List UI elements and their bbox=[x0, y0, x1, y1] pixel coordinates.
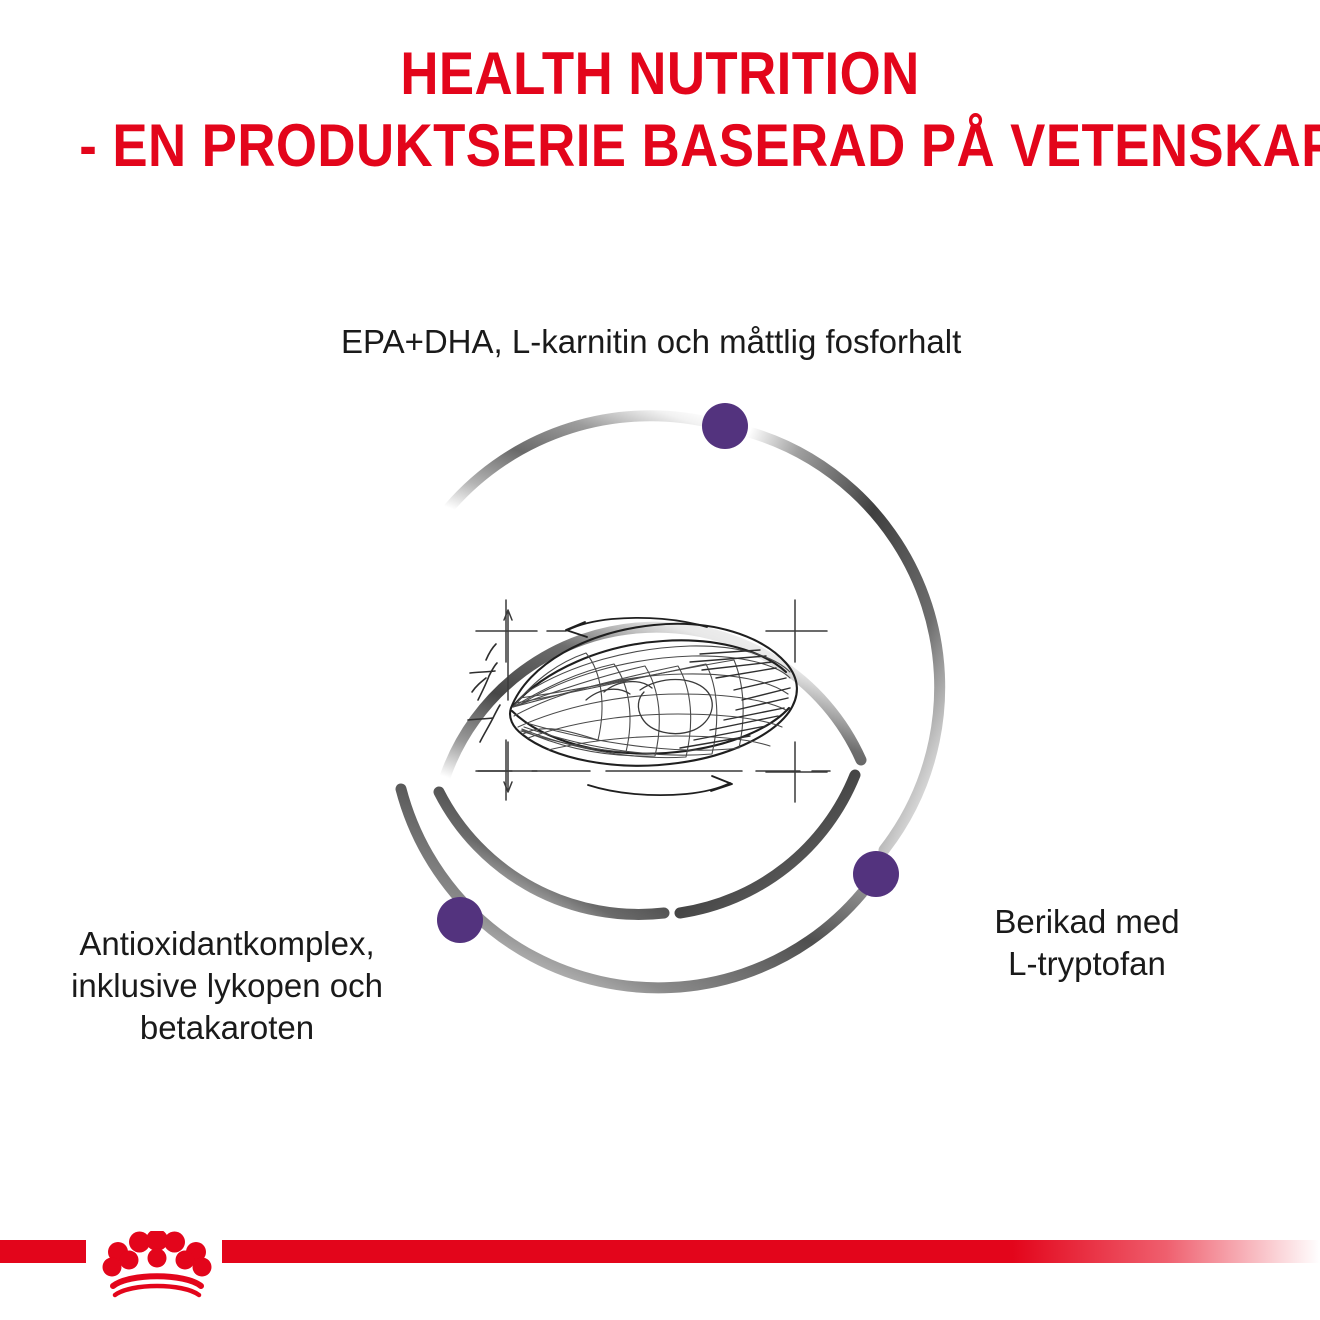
outer-ring-segment-bottom bbox=[401, 789, 862, 988]
callout-dot-bottom-right[interactable] bbox=[853, 851, 899, 897]
callout-dots bbox=[437, 403, 899, 943]
callout-dot-bottom-left[interactable] bbox=[437, 897, 483, 943]
outer-orbit-ring bbox=[401, 416, 940, 988]
poster-canvas: HEALTH NUTRITION - EN PRODUKTSERIE BASER… bbox=[0, 0, 1320, 1320]
callout-label-epa-dha: EPA+DHA, L-karnitin och måttlig fosforha… bbox=[341, 321, 961, 363]
rotation-arrows bbox=[566, 618, 732, 795]
callout-label-tryptophan: Berikad med L-tryptofan bbox=[952, 901, 1222, 985]
inner-ring-segment-bottom-left bbox=[439, 792, 664, 914]
callout-dot-top[interactable] bbox=[702, 403, 748, 449]
orbital-callout-diagram bbox=[0, 0, 1320, 1320]
kibble-swirl bbox=[586, 680, 712, 734]
royal-canin-crown-logo bbox=[96, 1231, 218, 1301]
outer-ring-segment-top-left bbox=[449, 416, 716, 508]
brand-footer bbox=[0, 1231, 1320, 1291]
footer-accent-bar-left bbox=[0, 1240, 86, 1263]
callout-label-antioxidants: Antioxidantkomplex, inklusive lykopen oc… bbox=[18, 923, 436, 1049]
footer-accent-bar-right bbox=[222, 1240, 1320, 1263]
inner-ring-segment-bottom-right bbox=[680, 775, 855, 913]
